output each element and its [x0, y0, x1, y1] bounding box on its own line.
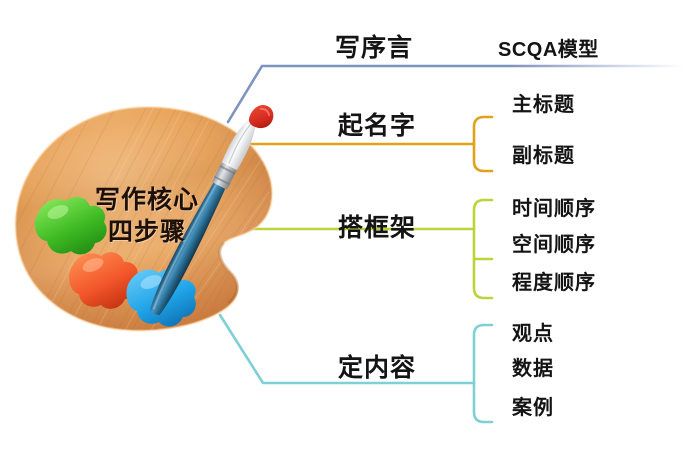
branch-label-content[interactable]: 定内容: [338, 348, 416, 384]
paint-blob-orange: [69, 252, 138, 309]
leaf-label-case[interactable]: 案例: [512, 391, 554, 420]
center-title-line2: 四步骤: [82, 216, 212, 248]
branch-label-preface[interactable]: 写序言: [335, 28, 413, 64]
center-title: 写作核心 四步骤: [82, 184, 212, 248]
branch-line-content: [220, 315, 684, 422]
leaf-label-data[interactable]: 数据: [512, 352, 554, 381]
leaf-label-main-title[interactable]: 主标题: [512, 88, 575, 117]
center-title-line1: 写作核心: [82, 184, 212, 216]
leaf-label-scqa-model[interactable]: SCQA模型: [498, 33, 599, 62]
leaf-label-viewpoint[interactable]: 观点: [512, 317, 554, 346]
leaf-label-degree-order[interactable]: 程度顺序: [512, 266, 596, 295]
branch-line-naming: [236, 117, 684, 171]
leaf-label-space-order[interactable]: 空间顺序: [512, 228, 596, 257]
branch-line-preface: [228, 66, 684, 122]
branch-line-framework: [230, 200, 684, 298]
mindmap-canvas: 写作核心 四步骤 写序言 起名字 搭框架 定内容 SCQA模型 主标题 副标题 …: [0, 0, 684, 459]
branch-label-naming[interactable]: 起名字: [338, 106, 416, 142]
leaf-label-time-order[interactable]: 时间顺序: [512, 192, 596, 221]
paint-blob-blue: [126, 269, 195, 326]
leaf-label-subtitle[interactable]: 副标题: [512, 139, 575, 168]
branch-label-framework[interactable]: 搭框架: [338, 208, 416, 244]
